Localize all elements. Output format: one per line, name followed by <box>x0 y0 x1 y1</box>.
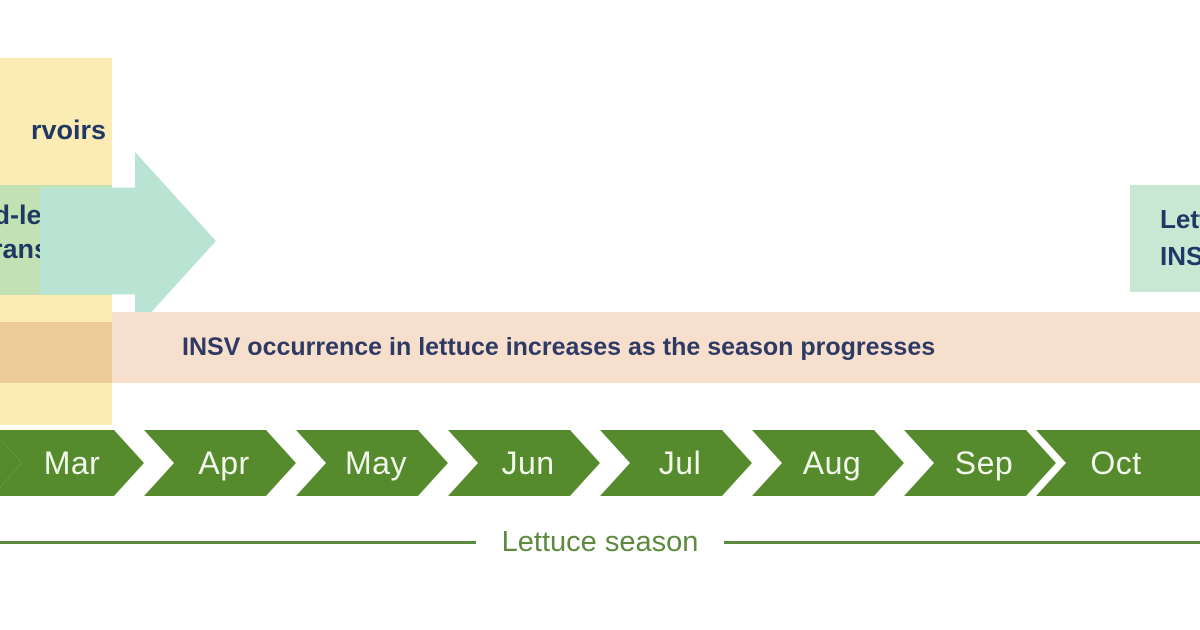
lettuce-insv-callout-box: Lett INSV <box>1130 185 1200 292</box>
left-band-yellow-middle <box>0 295 112 322</box>
infographic-canvas: rvoirs d-lettuce transition Lett INSV IN… <box>0 0 1200 630</box>
month-label: Jun <box>493 445 554 482</box>
left-band-tan <box>0 322 112 383</box>
insv-occurrence-banner: INSV occurrence in lettuce increases as … <box>112 312 1200 383</box>
teal-box-line2: INSV <box>1160 238 1200 275</box>
reservoirs-label: rvoirs <box>0 113 112 147</box>
month-chevron-may[interactable]: May <box>296 430 448 496</box>
month-chevron-sep[interactable]: Sep <box>904 430 1056 496</box>
month-label: Jul <box>651 445 701 482</box>
teal-box-line1: Lett <box>1160 201 1200 238</box>
insv-occurrence-banner-text: INSV occurrence in lettuce increases as … <box>182 333 935 362</box>
month-chevron-apr[interactable]: Apr <box>144 430 296 496</box>
lettuce-season-label: Lettuce season <box>476 526 725 559</box>
month-label: Oct <box>1082 445 1141 482</box>
lettuce-season-footer: Lettuce season <box>0 522 1200 562</box>
month-label: Mar <box>36 445 101 482</box>
left-band-yellow-bottom <box>0 383 112 425</box>
month-label: Apr <box>190 445 249 482</box>
month-chevron-aug[interactable]: Aug <box>752 430 904 496</box>
month-timeline: MarAprMayJunJulAugSepOct <box>0 430 1200 496</box>
season-rule-left <box>0 541 476 544</box>
month-label: May <box>337 445 407 482</box>
month-chevron-jul[interactable]: Jul <box>600 430 752 496</box>
month-chevron-jun[interactable]: Jun <box>448 430 600 496</box>
month-label: Aug <box>795 445 861 482</box>
season-rule-right <box>724 541 1200 544</box>
month-label: Sep <box>947 445 1013 482</box>
